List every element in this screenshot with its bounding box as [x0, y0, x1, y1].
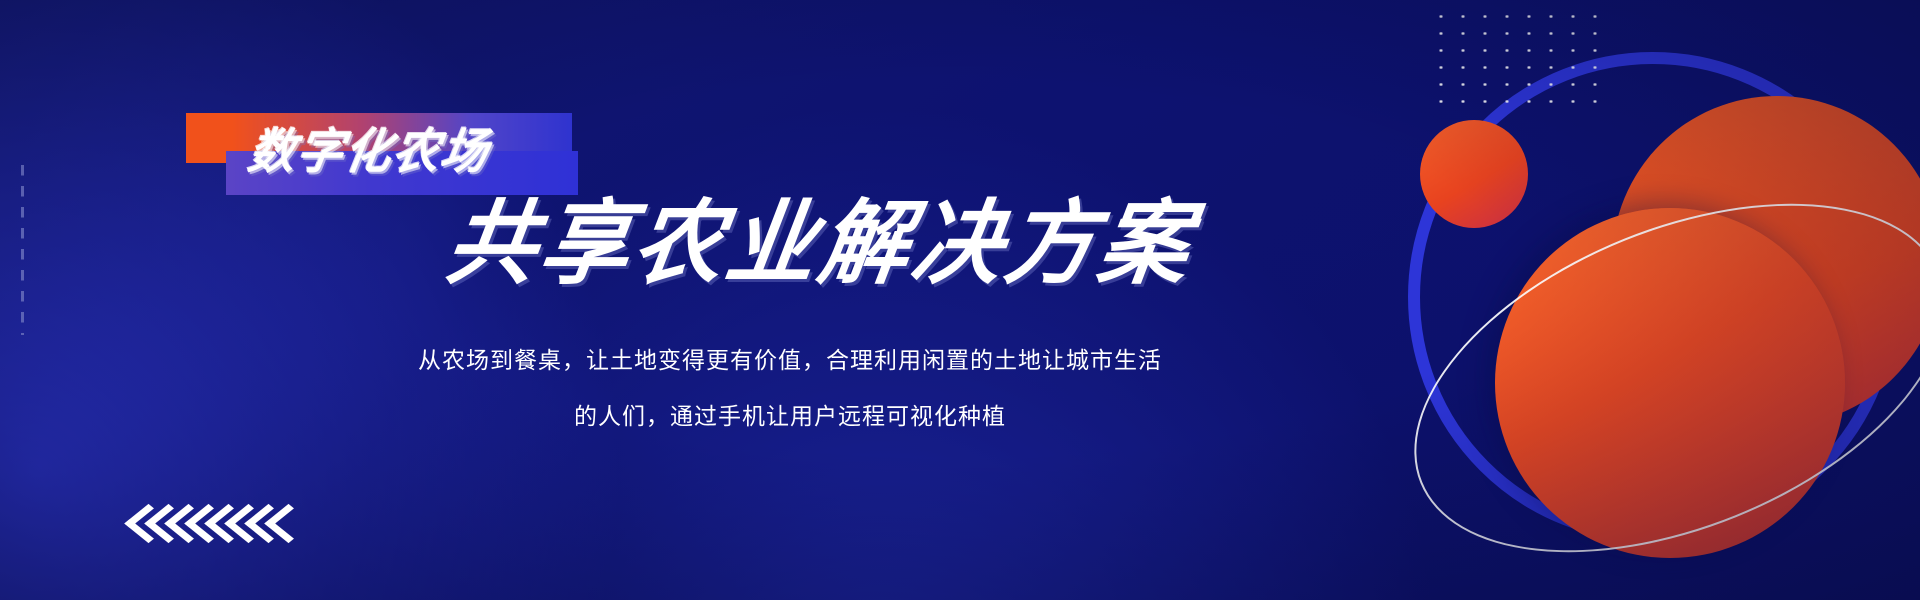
subtitle: 从农场到餐桌，让土地变得更有价值，合理利用闲置的土地让城市生活 的人们，通过手机…	[360, 332, 1220, 444]
chevron-left-icon	[270, 505, 290, 547]
badge: 数字化农场	[186, 113, 586, 193]
subtitle-line-1: 从农场到餐桌，让土地变得更有价值，合理利用闲置的土地让城市生活	[360, 332, 1220, 388]
chevron-decoration	[130, 505, 290, 547]
subtitle-line-2: 的人们，通过手机让用户远程可视化种植	[360, 388, 1220, 444]
page-title: 共享农业解决方案	[441, 198, 1199, 290]
badge-label: 数字化农场	[245, 129, 493, 177]
hero-banner: 数字化农场 共享农业解决方案 从农场到餐桌，让土地变得更有价值，合理利用闲置的土…	[0, 0, 1920, 600]
